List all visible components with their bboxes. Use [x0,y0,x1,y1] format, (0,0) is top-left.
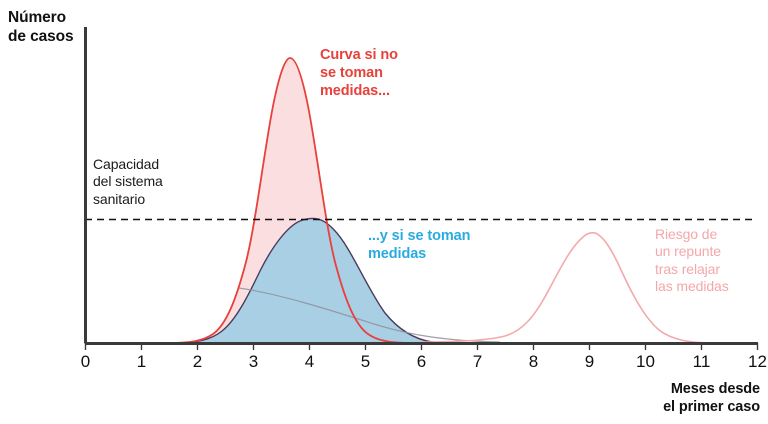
x-tick-label-1: 1 [137,352,146,372]
x-tick-label-6: 6 [417,352,426,372]
x-tick-label-11: 11 [693,352,711,372]
x-tick-label-7: 7 [473,352,482,372]
x-tick-label-12: 12 [748,352,767,372]
annotation-no-measures: Curva si no se toman medidas... [320,47,398,101]
y-axis-title: Número de casos [8,8,74,46]
x-tick-label-8: 8 [529,352,538,372]
x-tick-label-9: 9 [585,352,594,372]
x-tick-label-10: 10 [636,352,655,372]
flatten-the-curve-chart: Número de casos Meses desde el primer ca… [0,0,768,424]
x-axis-title: Meses desde el primer caso [663,381,760,417]
x-tick-label-3: 3 [249,352,258,372]
annotation-rebound-risk: Riesgo de un repunte tras relajar las me… [655,226,729,295]
x-tick-label-2: 2 [193,352,202,372]
annotation-capacity: Capacidad del sistema sanitario [93,156,163,208]
x-tick-label-0: 0 [81,352,90,372]
annotation-with-measures: ...y si se toman medidas [368,228,470,264]
x-tick-label-5: 5 [361,352,370,372]
x-tick-label-4: 4 [305,352,314,372]
